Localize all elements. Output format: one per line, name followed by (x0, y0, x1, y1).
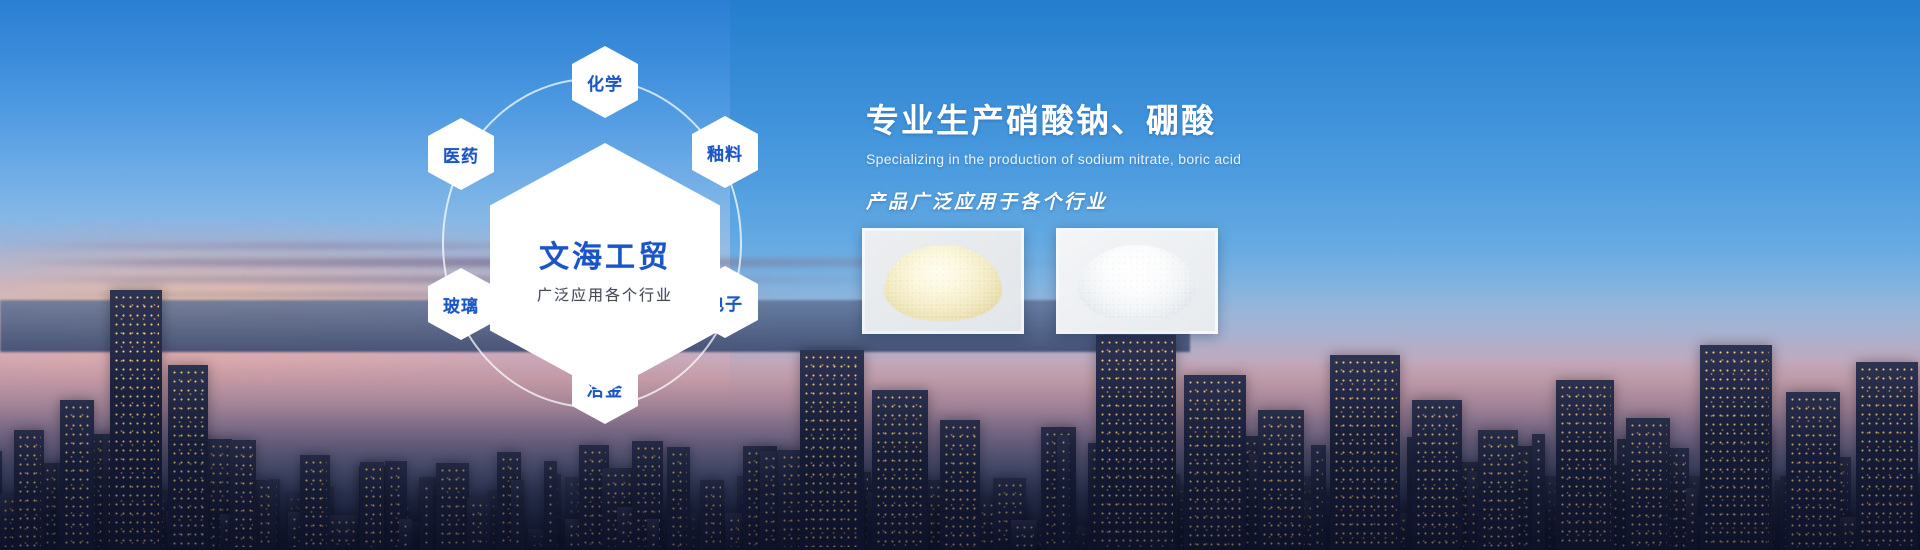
industry-hex-diagram: 化学 釉料 医药 电子 玻璃 冶金 文海工贸 广泛应用各个行业 (420, 30, 790, 450)
product-photo-group (862, 228, 1218, 334)
brand-name: 文海工贸 (539, 232, 671, 276)
product-photo-sodium-nitrate[interactable] (862, 228, 1024, 334)
hex-node-label: 玻璃 (443, 292, 479, 317)
hex-node-label: 医药 (443, 142, 479, 167)
headline-subtext: Specializing in the production of sodium… (866, 151, 1626, 167)
hex-node-label: 釉料 (707, 140, 743, 165)
headline-text: 专业生产硝酸钠、硼酸 (866, 100, 1626, 141)
product-photo-boric-acid[interactable] (1056, 228, 1218, 334)
brand-subtitle: 广泛应用各个行业 (537, 284, 673, 305)
headline-block: 专业生产硝酸钠、硼酸 Specializing in the productio… (866, 100, 1626, 214)
promo-banner: 化学 釉料 医药 电子 玻璃 冶金 文海工贸 广泛应用各个行业 专业生产硝酸钠、… (0, 0, 1920, 550)
tagline-text: 产品广泛应用于各个行业 (866, 187, 1626, 214)
foreground-haze (0, 360, 1920, 550)
hex-node-label: 化学 (587, 70, 623, 95)
